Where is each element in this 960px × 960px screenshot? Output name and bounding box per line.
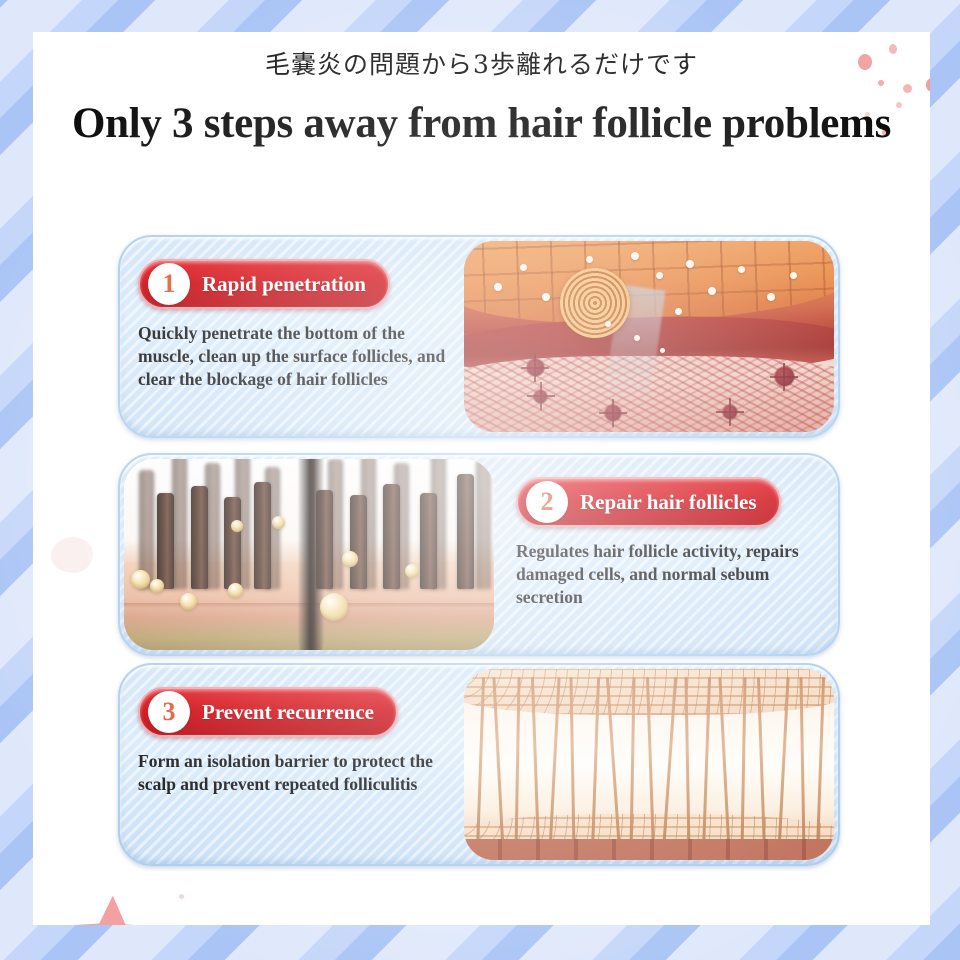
heading-block: 毛嚢炎の問題から3歩離れるだけです Only 3 steps away from… [33,50,930,147]
step-card-3[interactable]: 3 Prevent recurrence Form an isolation b… [118,663,840,866]
sebum-droplet [228,583,243,598]
step-1-badge: 1 Rapid penetration [138,259,390,309]
skin-fold-divider [298,459,324,650]
hair-shaft [254,482,271,589]
decor-blob [51,537,93,573]
hair-shaft [476,459,491,589]
hair-shaft [383,484,400,589]
particle-dot [675,308,682,315]
sebum-droplet [180,593,197,610]
hair-shaft [172,459,187,589]
protective-barrier-illustration [464,669,834,860]
step-1-number: 1 [148,263,190,305]
skin-cross-section-illustration [464,241,834,432]
particle-dot [494,283,502,291]
step-3-label: Prevent recurrence [202,700,374,725]
hair-shaft [191,486,208,589]
page-title: Only 3 steps away from hair follicle pro… [33,100,930,147]
content-panel: 毛嚢炎の問題から3歩離れるだけです Only 3 steps away from… [33,32,930,925]
particle-dot [634,335,640,341]
particle-dot [520,264,527,271]
step-3-description: Form an isolation barrier to protect the… [138,750,446,796]
step-3-number: 3 [148,691,190,733]
damaged-cell [775,367,794,386]
particle-dot [708,287,716,295]
step-2-description: Regulates hair follicle activity, repair… [516,540,824,609]
sebum-droplet [320,593,348,621]
step-1-label: Rapid penetration [202,272,366,297]
step-3-badge: 3 Prevent recurrence [138,687,398,737]
step-2-text-block: 2 Repair hair follicles Regulates hair f… [498,455,838,654]
step-card-2[interactable]: 2 Repair hair follicles Regulates hair f… [118,453,840,656]
step-3-text-block: 3 Prevent recurrence Form an isolation b… [120,665,460,864]
step-1-text-block: 1 Rapid penetration Quickly penetrate th… [120,237,460,436]
hair-shafts-illustration [124,459,494,650]
hair-shaft [457,474,474,589]
barrier-graphic [464,669,834,860]
particle-dot [656,272,663,279]
decor-speck [179,894,184,899]
subtitle-japanese: 毛嚢炎の問題から3歩離れるだけです [33,50,930,80]
sebum-droplet [342,551,358,567]
skin-layers-graphic [464,241,834,432]
decor-star-icon [65,892,157,925]
scalp-base-layer [464,839,834,860]
particle-dot [767,293,775,301]
sebum-droplet [272,516,285,529]
hair-follicle-graphic [560,268,630,338]
particle-dot [631,252,639,260]
particle-dot [542,293,550,301]
particle-dot [790,272,797,279]
hair-shaft [157,493,174,589]
page-background: 毛嚢炎の問題から3歩離れるだけです Only 3 steps away from… [0,0,960,960]
step-2-label: Repair hair follicles [580,490,757,515]
particle-dot [605,321,611,327]
step-1-description: Quickly penetrate the bottom of the musc… [138,322,446,391]
hair-shafts-graphic [124,459,494,650]
step-2-number: 2 [526,481,568,523]
damaged-cell [605,405,621,421]
hair-shaft [350,495,367,589]
particle-dot [738,266,745,273]
hair-shaft [205,463,220,589]
hair-shaft [224,497,241,589]
step-card-1[interactable]: 1 Rapid penetration Quickly penetrate th… [118,235,840,438]
hair-shaft [420,493,437,589]
step-2-badge: 2 Repair hair follicles [516,477,781,527]
